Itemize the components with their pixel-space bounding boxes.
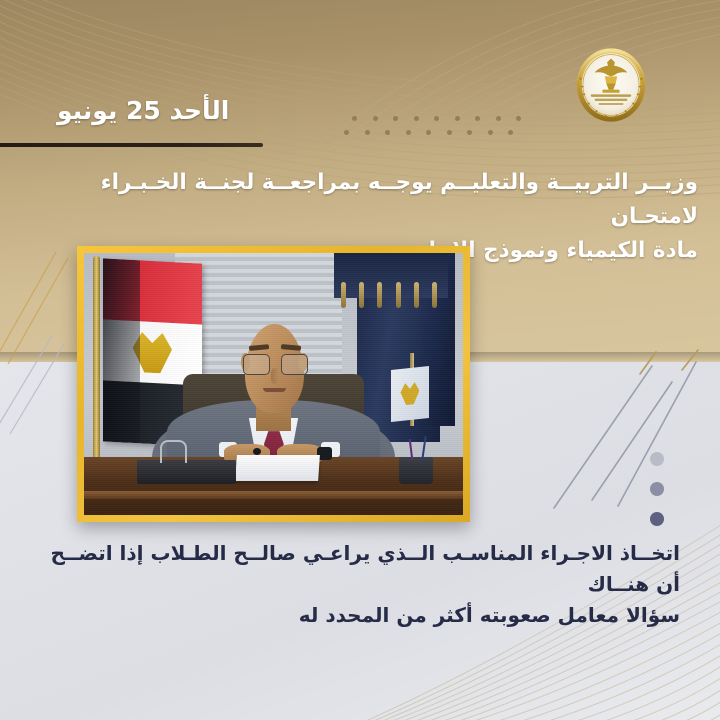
date-underline-rule xyxy=(0,143,263,147)
headline-line-1: وزيــر التربيــة والتعليــم يوجــه بمراج… xyxy=(101,170,698,229)
desk-edge xyxy=(84,491,463,499)
dot xyxy=(475,116,480,121)
dot-stack-decoration xyxy=(650,452,664,542)
dot xyxy=(414,116,419,121)
desk-organizer xyxy=(137,460,236,484)
dot xyxy=(496,116,501,121)
footer-line-1: اتخــاذ الاجـراء المناسـب الــذي يراعـي … xyxy=(50,541,680,596)
desk-flag-emblem xyxy=(400,382,419,406)
curtain-valance xyxy=(334,253,448,298)
desk-flag xyxy=(391,366,429,422)
announcement-card: الأحد 25 يونيو xyxy=(0,0,720,720)
dot xyxy=(434,116,439,121)
dot xyxy=(385,130,390,135)
ministry-emblem-icon xyxy=(572,44,650,126)
dot xyxy=(508,130,513,135)
dot xyxy=(455,116,460,121)
minister-photo xyxy=(84,253,463,515)
footer-text: اتخــاذ الاجـراء المناسـب الــذي يراعـي … xyxy=(40,538,680,631)
dot xyxy=(447,130,452,135)
dot xyxy=(344,130,349,135)
mouth xyxy=(263,388,286,392)
right-diagonal-strokes-decoration xyxy=(540,330,720,520)
desk-papers xyxy=(235,455,320,481)
minister-photo-frame xyxy=(77,246,470,522)
dot xyxy=(516,116,521,121)
dot xyxy=(406,130,411,135)
dot xyxy=(393,116,398,121)
dot xyxy=(352,116,357,121)
finger-ring xyxy=(253,448,261,455)
dot-dark xyxy=(650,512,664,526)
nose xyxy=(271,368,279,384)
dot xyxy=(373,116,378,121)
footer-line-2: سؤالا معامل صعوبته أكثر من المحدد له xyxy=(40,600,680,631)
dot xyxy=(467,130,472,135)
desk-clip xyxy=(160,440,187,463)
dot-grid-row-1 xyxy=(352,116,532,121)
dot-grid-row-2 xyxy=(344,130,532,135)
pen-holder xyxy=(399,457,433,483)
dot-medium xyxy=(650,482,664,496)
dot xyxy=(426,130,431,135)
dot xyxy=(488,130,493,135)
date-label: الأحد 25 يونيو xyxy=(57,96,229,125)
flag-fold-shadow xyxy=(103,258,140,443)
dot-grid-decoration xyxy=(352,116,532,156)
dot-light xyxy=(650,452,664,466)
dot xyxy=(365,130,370,135)
